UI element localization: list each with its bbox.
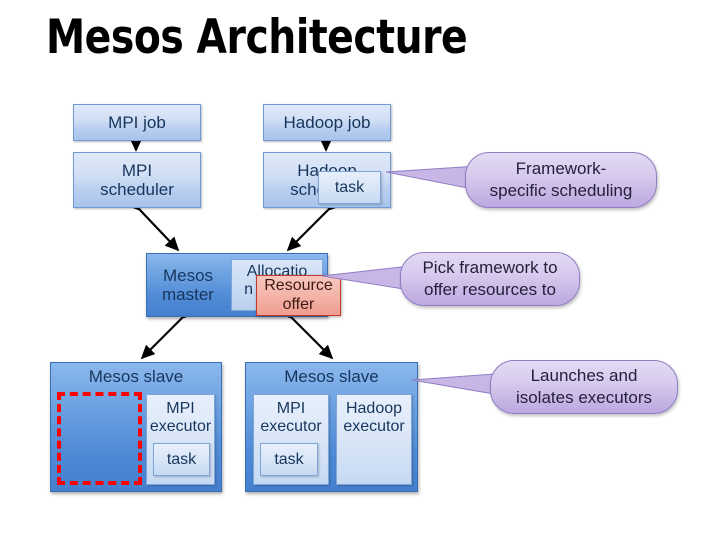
callout-2-line2: offer resources to: [424, 279, 556, 301]
slave-right-mpi-task-label: task: [274, 451, 303, 469]
mesos-master-label-line2: master: [162, 285, 214, 304]
callout-framework-specific-scheduling[interactable]: Framework- specific scheduling: [465, 152, 657, 208]
slave-left-mpi-task-label: task: [167, 451, 196, 469]
callout-3-line2: isolates executors: [516, 387, 652, 409]
mesos-slave-left-label: Mesos slave: [51, 363, 221, 386]
slave-left-mpi-executor-box[interactable]: MPI executor task: [146, 394, 215, 485]
mesos-master-label-line1: Mesos: [163, 266, 213, 285]
callout-pick-framework-offer-resources[interactable]: Pick framework to offer resources to: [400, 252, 580, 306]
hadoop-scheduler-task-box[interactable]: task: [318, 171, 381, 204]
slave-right-hadoop-executor-line1: Hadoop: [337, 400, 411, 418]
slave-left-mpi-executor-line1: MPI: [147, 400, 214, 418]
slave-right-hadoop-executor-box[interactable]: Hadoop executor: [336, 394, 412, 485]
slave-right-mpi-executor-line2: executor: [254, 418, 328, 436]
mpi-scheduler-label-line2: scheduler: [100, 180, 174, 199]
slide-canvas: Mesos Architecture MPI job MPI scheduler…: [0, 0, 721, 540]
slave-left-mpi-task-box[interactable]: task: [153, 443, 210, 476]
callout-3-line1: Launches and: [531, 365, 638, 387]
mpi-job-label: MPI job: [108, 113, 166, 132]
slave-right-mpi-task-box[interactable]: task: [260, 443, 318, 476]
slave-left-mpi-executor-line2: executor: [147, 418, 214, 436]
hadoop-job-label: Hadoop job: [284, 113, 371, 132]
callout-1-line2: specific scheduling: [490, 180, 633, 202]
hadoop-job-box[interactable]: Hadoop job: [263, 104, 391, 141]
resource-offer-line2: offer: [283, 296, 315, 314]
mpi-scheduler-label-line1: MPI: [122, 161, 152, 180]
mesos-slave-right-label: Mesos slave: [246, 363, 417, 386]
slave-right-mpi-executor-box[interactable]: MPI executor task: [253, 394, 329, 485]
slave-right-hadoop-executor-line2: executor: [337, 418, 411, 436]
slave-right-mpi-executor-line1: MPI: [254, 400, 328, 418]
mpi-job-box[interactable]: MPI job: [73, 104, 201, 141]
hadoop-scheduler-task-label: task: [335, 179, 364, 197]
callout-1-line1: Framework-: [516, 158, 607, 180]
callout-2-line1: Pick framework to: [422, 257, 557, 279]
callout-launches-isolates-executors[interactable]: Launches and isolates executors: [490, 360, 678, 414]
mpi-scheduler-box[interactable]: MPI scheduler: [73, 152, 201, 208]
page-title: Mesos Architecture: [46, 10, 467, 65]
mesos-master-label: Mesos master: [147, 266, 229, 304]
empty-executor-slot-placeholder: [57, 392, 142, 485]
